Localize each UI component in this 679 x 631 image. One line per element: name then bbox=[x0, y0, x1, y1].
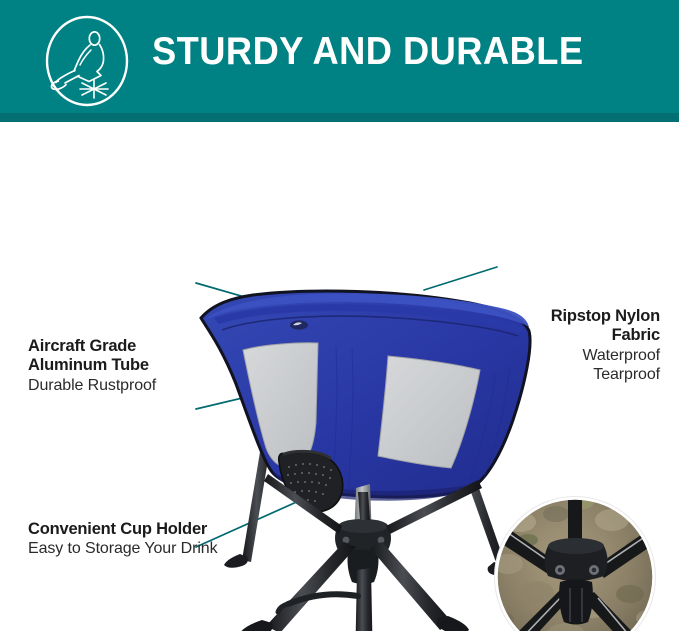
callout-heading: Aircraft Grade Aluminum Tube bbox=[28, 337, 258, 376]
person-reclining-in-camp-chair-icon bbox=[44, 15, 130, 107]
callout-subtext: Durable Rustproof bbox=[28, 376, 258, 395]
product-illustration-area: Aircraft Grade Aluminum Tube Durable Rus… bbox=[0, 122, 679, 631]
hub-closeup-inset bbox=[486, 495, 660, 631]
callout-aircraft-grade-aluminum-tube: Aircraft Grade Aluminum Tube Durable Rus… bbox=[28, 337, 258, 395]
header-banner: STURDY AND DURABLE bbox=[0, 0, 679, 122]
callout-heading: Ripstop Nylon Fabric bbox=[455, 307, 660, 346]
callout-subtext: Easy to Storage Your Drink bbox=[28, 539, 298, 558]
chair-brand-badge bbox=[290, 320, 308, 329]
callout-convenient-cup-holder: Convenient Cup Holder Easy to Storage Yo… bbox=[28, 520, 298, 558]
callout-subtext: Waterproof Tearproof bbox=[455, 346, 660, 384]
callout-ripstop-nylon-fabric: Ripstop Nylon Fabric Waterproof Tearproo… bbox=[455, 307, 660, 384]
header-bottom-stripe bbox=[0, 113, 679, 122]
callout-heading: Convenient Cup Holder bbox=[28, 520, 298, 539]
page-title: STURDY AND DURABLE bbox=[152, 32, 584, 71]
